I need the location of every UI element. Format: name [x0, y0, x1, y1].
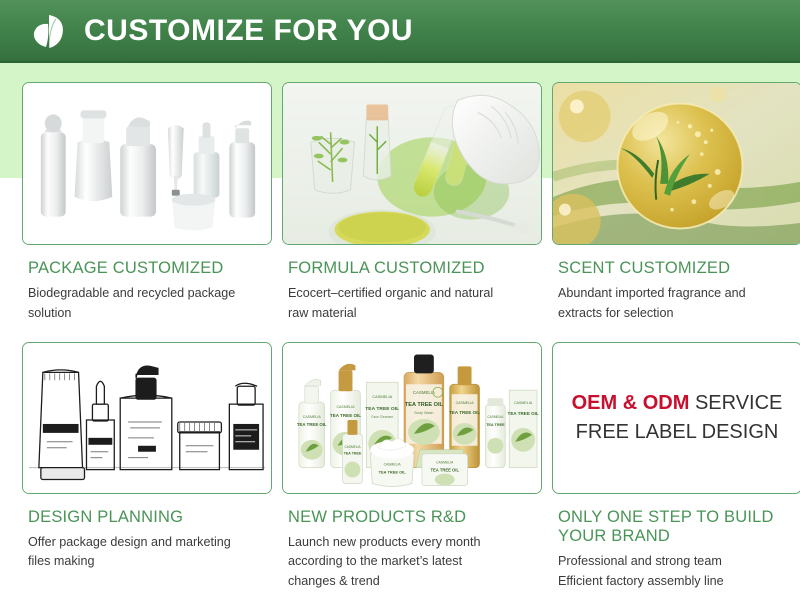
- svg-text:CASMELIA: CASMELIA: [384, 462, 402, 466]
- svg-text:CASMELIA: CASMELIA: [372, 394, 392, 399]
- card-title: DESIGN PLANNING: [28, 508, 268, 527]
- service-text: SERVICE: [689, 392, 782, 414]
- svg-text:TEA TREE OIL: TEA TREE OIL: [449, 410, 480, 415]
- card-only-one-step[interactable]: OEM & ODM SERVICE FREE LABEL DESIGN ONLY…: [552, 342, 800, 592]
- oem-service-line: OEM & ODM SERVICE: [572, 389, 783, 418]
- card-new-products-rd[interactable]: CASMELIA TEA TREE OIL CASMELIA TEA TREE …: [282, 342, 542, 592]
- card-caption: NEW PRODUCTS R&D Launch new products eve…: [282, 494, 542, 592]
- svg-text:CASMELIA: CASMELIA: [456, 401, 475, 405]
- card-title: PACKAGE CUSTOMIZED: [28, 259, 268, 278]
- card-scent-customized[interactable]: SCENT CUSTOMIZED Abundant imported fragr…: [552, 82, 800, 324]
- laboratory-glassware-photo: [282, 82, 542, 245]
- svg-text:Face Cleanser: Face Cleanser: [371, 415, 394, 419]
- svg-text:CASMELIA: CASMELIA: [487, 415, 504, 419]
- card-caption: FORMULA CUSTOMIZED Ecocert–certified org…: [282, 245, 542, 324]
- card-formula-customized[interactable]: FORMULA CUSTOMIZED Ecocert–certified org…: [282, 82, 542, 324]
- card-body: Launch new products every month accordin…: [288, 533, 538, 592]
- feature-grid: PACKAGE CUSTOMIZED Biodegradable and rec…: [22, 82, 794, 592]
- svg-text:TEA TREE: TEA TREE: [344, 451, 362, 455]
- svg-text:TEA TREE OIL: TEA TREE OIL: [508, 411, 539, 416]
- card-body: Ecocert–certified organic and natural ra…: [288, 284, 538, 323]
- card-title: NEW PRODUCTS R&D: [288, 508, 538, 527]
- svg-text:CASMELIA: CASMELIA: [336, 405, 355, 409]
- card-body: Biodegradable and recycled package solut…: [28, 284, 268, 323]
- card-caption: SCENT CUSTOMIZED Abundant imported fragr…: [552, 245, 800, 324]
- svg-text:Body Wash: Body Wash: [414, 411, 433, 415]
- tea-tree-oil-product-lineup-photo: CASMELIA TEA TREE OIL CASMELIA TEA TREE …: [282, 342, 542, 494]
- svg-text:TEA TREE OIL: TEA TREE OIL: [379, 469, 407, 474]
- svg-text:TEA TREE: TEA TREE: [486, 422, 505, 426]
- svg-text:TEA TREE OIL: TEA TREE OIL: [297, 421, 327, 426]
- svg-text:TEA TREE OIL: TEA TREE OIL: [330, 413, 361, 418]
- svg-text:TEA TREE OIL: TEA TREE OIL: [365, 406, 399, 412]
- card-package-customized[interactable]: PACKAGE CUSTOMIZED Biodegradable and rec…: [22, 82, 272, 324]
- card-title: SCENT CUSTOMIZED: [558, 259, 798, 278]
- card-caption: ONLY ONE STEP TO BUILD YOUR BRAND Profes…: [552, 494, 800, 592]
- svg-text:CASMELIA: CASMELIA: [344, 444, 361, 448]
- free-label-design-line: FREE LABEL DESIGN: [576, 418, 779, 447]
- card-title: ONLY ONE STEP TO BUILD YOUR BRAND: [558, 508, 798, 547]
- svg-text:TEA TREE OIL: TEA TREE OIL: [431, 467, 460, 472]
- page-header: CUSTOMIZE FOR YOU: [0, 0, 800, 63]
- bottle-line-art-sketch: [22, 342, 272, 494]
- card-caption: PACKAGE CUSTOMIZED Biodegradable and rec…: [22, 245, 272, 324]
- card-design-planning[interactable]: DESIGN PLANNING Offer package design and…: [22, 342, 272, 592]
- svg-text:CASMELIA: CASMELIA: [303, 415, 322, 419]
- white-cosmetic-bottles-photo: [22, 82, 272, 245]
- golden-oil-droplet-photo: [552, 82, 800, 245]
- page-title: CUSTOMIZE FOR YOU: [84, 16, 413, 46]
- oem-odm-accent: OEM & ODM: [572, 392, 690, 414]
- leaf-icon: [28, 10, 70, 52]
- card-body: Offer package design and marketing files…: [28, 533, 268, 572]
- card-title: FORMULA CUSTOMIZED: [288, 259, 538, 278]
- svg-text:CASMELIA: CASMELIA: [436, 460, 454, 464]
- svg-text:CASMELIA: CASMELIA: [413, 390, 435, 395]
- customize-for-you-page: CUSTOMIZE FOR YOU: [0, 0, 800, 600]
- card-caption: DESIGN PLANNING Offer package design and…: [22, 494, 272, 573]
- svg-text:TEA TREE OIL: TEA TREE OIL: [405, 402, 444, 408]
- card-body: Professional and strong team Efficient f…: [558, 552, 798, 591]
- card-body: Abundant imported fragrance and extracts…: [558, 284, 798, 323]
- svg-text:CASMELIA: CASMELIA: [514, 401, 533, 405]
- oem-odm-service-panel: OEM & ODM SERVICE FREE LABEL DESIGN: [552, 342, 800, 494]
